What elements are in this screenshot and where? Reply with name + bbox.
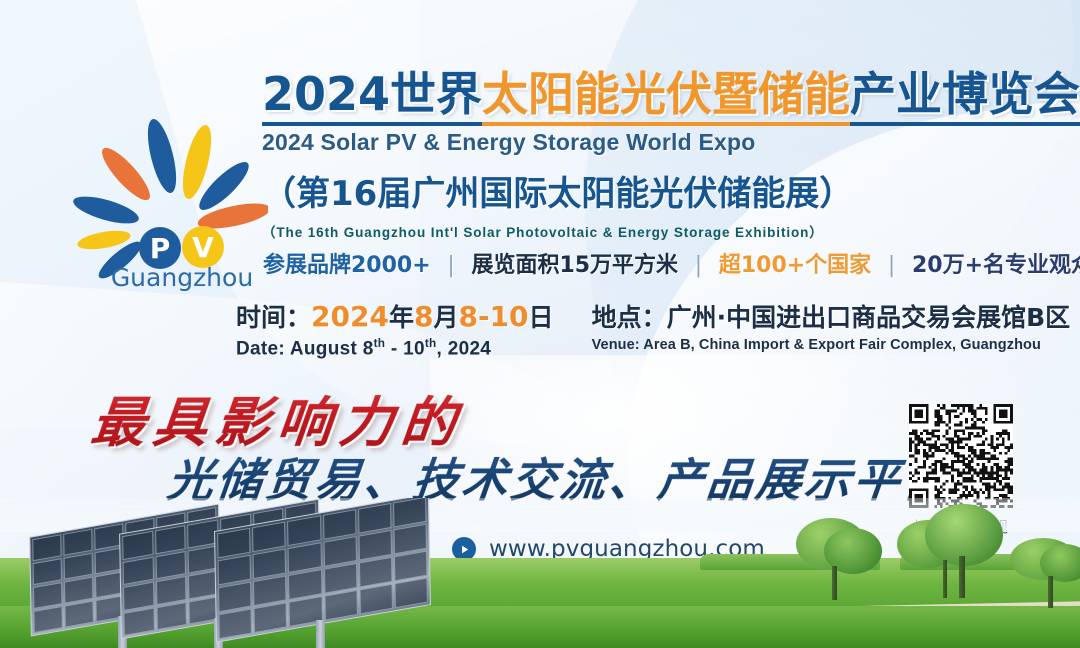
date-en-prefix: Date: August: [236, 338, 363, 359]
date-month-unit: 月: [433, 303, 458, 332]
main-title-english: 2024 Solar PV & Energy Storage World Exp…: [262, 129, 1052, 156]
date-days: 8-10: [458, 300, 528, 333]
date-en-suffix: , 2024: [437, 338, 492, 359]
svg-text:P: P: [150, 232, 171, 265]
stat-area: 展览面积15万平方米: [471, 247, 678, 279]
logo-wordmark: Guangzhou: [111, 263, 253, 292]
date-year-unit: 年: [389, 303, 414, 332]
stat-separator-3: |: [879, 253, 904, 278]
pv-guangzhou-logo: P V Guangzhou: [58, 100, 268, 292]
date-day-unit: 日: [529, 303, 554, 332]
date-en-day1: 8: [363, 338, 374, 359]
date-year: 2024: [311, 300, 389, 333]
bottom-scenery: [0, 498, 1080, 648]
subtitle-chinese: （第16届广州国际太阳能光伏储能展）: [262, 166, 1052, 215]
tree-2: [895, 502, 1015, 610]
headline-block: 2024世界太阳能光伏暨储能产业博览会 2024 Solar PV & Ener…: [262, 70, 1052, 241]
main-title-part-2: 太阳能光伏暨储能: [482, 67, 850, 126]
date-venue-block: 时间：2024年8月8-10日 Date: August 8th - 10th,…: [236, 298, 1070, 360]
expo-poster: P V Guangzhou 2024世界太阳能光伏暨储能产业博览会 2024 S…: [0, 0, 1080, 648]
tree-1: [790, 514, 886, 610]
main-title-part-1: 2024世界: [262, 67, 482, 126]
venue-value-cn: 广州·中国进出口商品交易会展馆B区: [667, 303, 1071, 332]
date-en-mid: -: [385, 338, 403, 359]
tree-3: [1010, 534, 1080, 612]
date-en-sup1: th: [374, 337, 386, 350]
stat-brands: 参展品牌2000+: [263, 247, 431, 279]
qr-code[interactable]: [909, 404, 1013, 508]
date-en-sup2: th: [425, 337, 437, 350]
date-chinese: 时间：2024年8月8-10日: [236, 298, 554, 334]
stat-separator-2: |: [686, 253, 711, 278]
stat-visitors: 20万+名专业观众: [912, 247, 1080, 279]
stats-line: 参展品牌2000+ | 展览面积15万平方米 | 超100+个国家 | 20万+…: [263, 247, 1080, 279]
venue-chinese: 地点：广州·中国进出口商品交易会展馆B区: [592, 298, 1071, 334]
main-title-part-3: 产业博览会: [850, 67, 1080, 126]
venue-english: Venue: Area B, China Import & Export Fai…: [592, 337, 1071, 353]
main-title: 2024世界太阳能光伏暨储能产业博览会: [262, 70, 1052, 120]
stat-separator-1: |: [438, 253, 463, 278]
subtitle-english: （The 16th Guangzhou Int'l Solar Photovol…: [262, 221, 1052, 241]
venue-label-cn: 地点：: [592, 303, 667, 332]
date-english: Date: August 8th - 10th, 2024: [236, 337, 554, 360]
date-month: 8: [414, 300, 433, 333]
stat-countries: 超100+个国家: [719, 247, 871, 279]
panel-post-3: [316, 620, 325, 648]
date-label-cn: 时间：: [236, 303, 311, 332]
svg-text:V: V: [192, 231, 214, 264]
venue-column: 地点：广州·中国进出口商品交易会展馆B区 Venue: Area B, Chin…: [592, 298, 1071, 360]
date-column: 时间：2024年8月8-10日 Date: August 8th - 10th,…: [236, 298, 554, 360]
date-en-day2: 10: [403, 338, 425, 359]
